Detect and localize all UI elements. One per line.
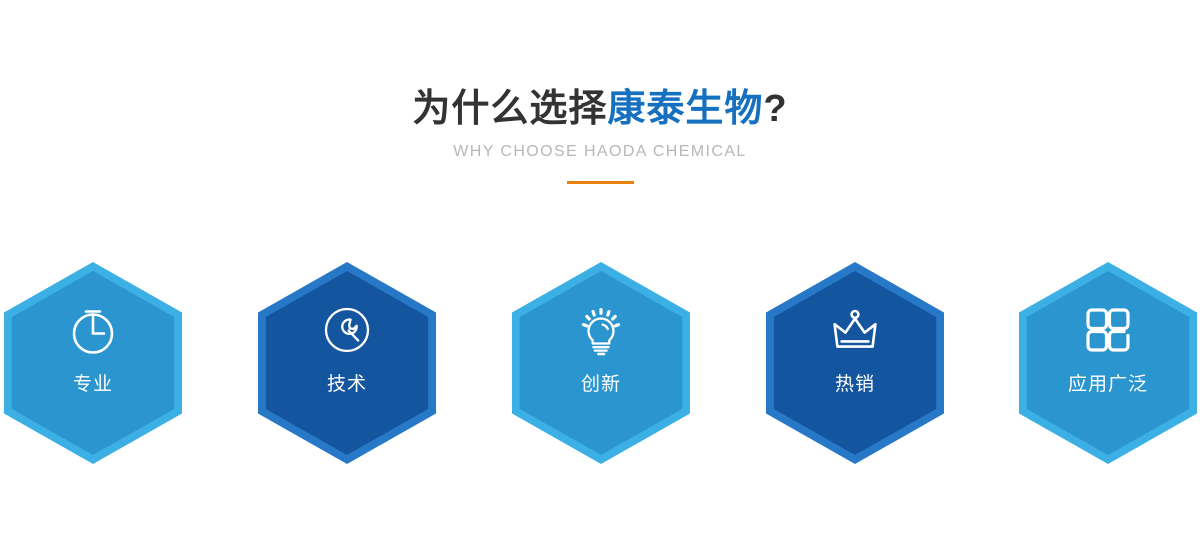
feature-hexagon-row: 专业 技术	[0, 262, 1200, 464]
title-divider	[567, 181, 634, 184]
wrench-circle-icon	[318, 301, 376, 359]
feature-label: 热销	[835, 373, 875, 397]
page-title-suffix: ?	[763, 88, 787, 130]
feature-hexagon-wide-application[interactable]: 应用广泛	[1019, 262, 1197, 464]
feature-label: 技术	[327, 373, 367, 397]
feature-label: 创新	[581, 373, 621, 397]
page-subtitle: WHY CHOOSE HAODA CHEMICAL	[0, 132, 1200, 163]
hexagon-content: 创新	[512, 262, 690, 464]
page-title-accent: 康泰生物	[607, 88, 763, 130]
hexagon-content: 专业	[4, 262, 182, 464]
crown-icon	[826, 301, 884, 359]
page-title: 为什么选择康泰生物?	[0, 0, 1200, 132]
feature-label: 应用广泛	[1068, 373, 1148, 397]
feature-hexagon-technology[interactable]: 技术	[258, 262, 436, 464]
lightbulb-icon	[572, 301, 630, 359]
feature-label: 专业	[73, 373, 113, 397]
divider-wrapper	[0, 163, 1200, 184]
section-header: 为什么选择康泰生物? WHY CHOOSE HAODA CHEMICAL	[0, 0, 1200, 184]
stopwatch-icon	[64, 301, 122, 359]
hexagon-content: 热销	[766, 262, 944, 464]
feature-hexagon-professional[interactable]: 专业	[4, 262, 182, 464]
feature-hexagon-innovation[interactable]: 创新	[512, 262, 690, 464]
grid-apps-icon	[1079, 301, 1137, 359]
feature-hexagon-bestseller[interactable]: 热销	[766, 262, 944, 464]
hexagon-content: 技术	[258, 262, 436, 464]
page-title-prefix: 为什么选择	[412, 88, 607, 130]
hexagon-content: 应用广泛	[1019, 262, 1197, 464]
